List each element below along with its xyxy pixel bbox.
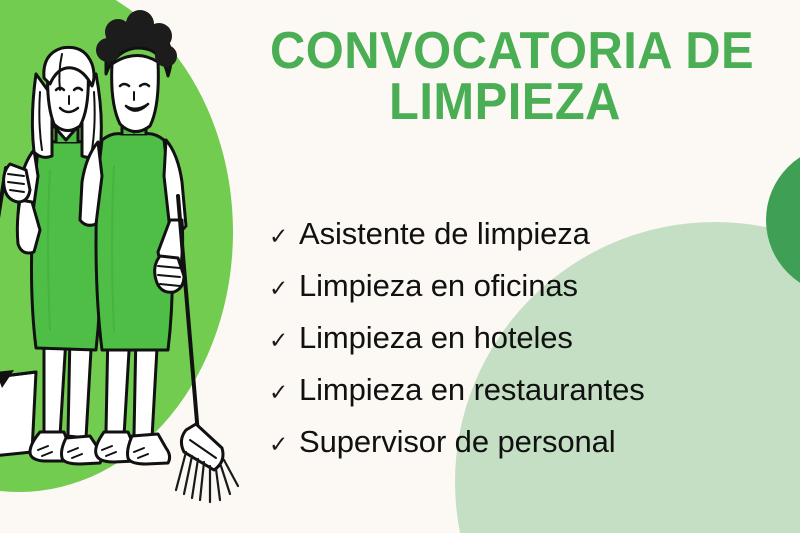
check-icon: ✓ [263,225,299,248]
list-item: ✓ Limpieza en restaurantes [263,374,793,426]
list-item: ✓ Supervisor de personal [263,426,793,478]
list-item: ✓ Asistente de limpieza [263,218,793,270]
page-title: CONVOCATORIA DE LIMPIEZA [270,26,740,128]
job-label: Limpieza en hoteles [299,322,793,353]
title-line-2: LIMPIEZA [270,77,740,128]
job-label: Limpieza en restaurantes [299,374,793,405]
job-label: Limpieza en oficinas [299,270,793,301]
check-icon: ✓ [263,277,299,300]
job-label: Supervisor de personal [299,426,793,457]
check-icon: ✓ [263,433,299,456]
broom-icon [176,196,238,502]
poster-canvas: CONVOCATORIA DE LIMPIEZA ✓ Asistente de … [0,0,800,533]
cleaning-workers-illustration [0,0,260,533]
content-column: CONVOCATORIA DE LIMPIEZA ✓ Asistente de … [255,0,800,533]
job-label: Asistente de limpieza [299,218,793,249]
check-icon: ✓ [263,381,299,404]
check-icon: ✓ [263,329,299,352]
list-item: ✓ Limpieza en hoteles [263,322,793,374]
bucket-icon [0,370,36,456]
job-list: ✓ Asistente de limpieza ✓ Limpieza en of… [263,218,793,478]
title-line-1: CONVOCATORIA DE [270,26,740,77]
workers-illustration-svg [0,0,260,533]
list-item: ✓ Limpieza en oficinas [263,270,793,322]
